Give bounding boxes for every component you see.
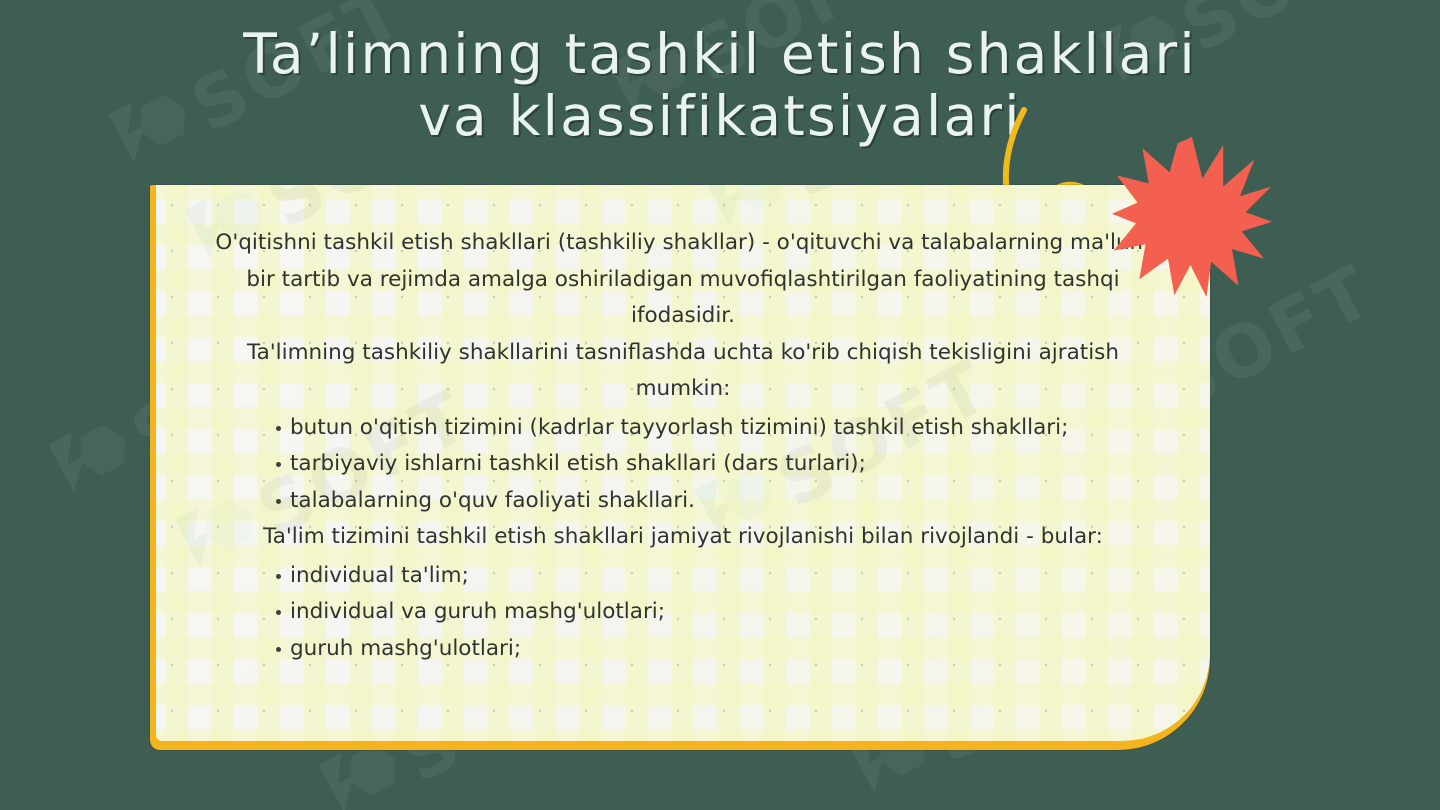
list-item: butun o'qitish tizimini (kadrlar tayyorl… xyxy=(202,410,1164,447)
watermark: SOFT xyxy=(1090,0,1409,111)
list-item: guruh mashg'ulotlari; xyxy=(202,631,1164,668)
list-item: talabalarning o'quv faoliyati shakllari. xyxy=(202,483,1164,520)
paragraph-classification-intro: Ta'limning tashkiliy shakllarini tasnifl… xyxy=(202,335,1164,408)
k-hexagon-logo-icon xyxy=(1090,0,1199,111)
k-hexagon-logo-icon xyxy=(600,28,709,141)
content-card: SOFT SOFT SOFT xyxy=(150,185,1210,750)
k-hexagon-logo-icon xyxy=(40,408,149,521)
bullet-list-organizational-forms: butun o'qitish tizimini (kadrlar tayyorl… xyxy=(202,410,1164,520)
list-item: individual va guruh mashg'ulotlari; xyxy=(202,594,1164,631)
paragraph-development: Ta'lim tizimini tashkil etish shakllari … xyxy=(202,519,1164,556)
slide-title: Ta’limning tashkil etish shakllari va kl… xyxy=(0,24,1440,147)
watermark: SOFT xyxy=(100,0,419,191)
card-surface: SOFT SOFT SOFT xyxy=(156,185,1210,741)
slide-title-line-1: Ta’limning tashkil etish shakllari xyxy=(0,24,1440,86)
watermark-text: SOFT xyxy=(1171,0,1406,63)
slide-title-line-2: va klassifikatsiyalari xyxy=(0,86,1440,148)
watermark: SOFT xyxy=(600,0,919,141)
watermark-text: SOFT xyxy=(681,0,916,93)
bullet-list-education-types: individual ta'lim; individual va guruh m… xyxy=(202,558,1164,668)
list-item: tarbiyaviy ishlarni tashkil etish shakll… xyxy=(202,446,1164,483)
paragraph-definition: O'qitishni tashkil etish shakllari (tash… xyxy=(202,225,1164,335)
list-item: individual ta'lim; xyxy=(202,558,1164,595)
watermark-text: SOFT xyxy=(181,0,416,143)
k-hexagon-logo-icon xyxy=(100,78,209,191)
card-body: O'qitishni tashkil etish shakllari (tash… xyxy=(156,185,1210,668)
